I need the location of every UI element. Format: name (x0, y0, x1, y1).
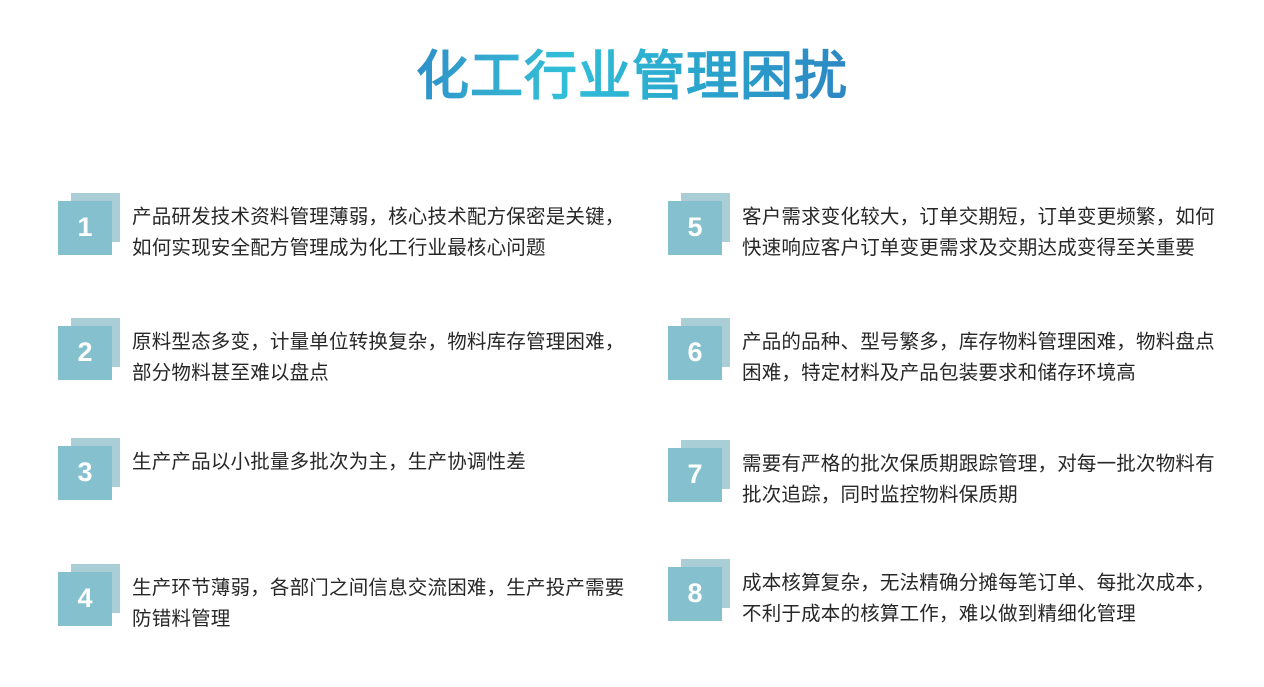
badge-square: 3 (58, 446, 112, 500)
badge-square: 8 (668, 567, 722, 621)
badge-square: 5 (668, 201, 722, 255)
bullet-number-badge: 8 (668, 559, 730, 621)
bullet-item-text: 生产环节薄弱，各部门之间信息交流困难，生产投产需要防错料管理 (132, 573, 630, 635)
bullet-number-badge: 4 (58, 564, 120, 626)
bullet-number-badge: 6 (668, 318, 730, 380)
bullet-number-badge: 3 (58, 438, 120, 500)
bullet-item-text: 生产产品以小批量多批次为主，生产协调性差 (132, 447, 630, 478)
bullet-number-label: 5 (687, 214, 702, 241)
bullet-item-text: 产品研发技术资料管理薄弱，核心技术配方保密是关键，如何实现安全配方管理成为化工行… (132, 202, 630, 264)
slide-canvas: 化工行业管理困扰 1产品研发技术资料管理薄弱，核心技术配方保密是关键，如何实现安… (0, 0, 1264, 687)
bullet-item-text: 成本核算复杂，无法精确分摊每笔订单、每批次成本，不利于成本的核算工作，难以做到精… (742, 568, 1234, 630)
bullet-number-label: 6 (687, 339, 702, 366)
bullet-number-label: 1 (77, 214, 92, 241)
badge-square: 2 (58, 326, 112, 380)
bullet-number-badge: 7 (668, 440, 730, 502)
bullet-number-label: 8 (687, 580, 702, 607)
bullet-column-right: 5客户需求变化较大，订单交期短，订单变更频繁，如何快速响应客户订单变更需求及交期… (660, 0, 1260, 687)
bullet-item-text: 客户需求变化较大，订单交期短，订单变更频繁，如何快速响应客户订单变更需求及交期达… (742, 202, 1234, 264)
bullet-item-text: 产品的品种、型号繁多，库存物料管理困难，物料盘点困难，特定材料及产品包装要求和储… (742, 327, 1234, 389)
bullet-number-label: 3 (77, 459, 92, 486)
badge-square: 4 (58, 572, 112, 626)
bullet-number-label: 4 (77, 585, 92, 612)
bullet-number-badge: 2 (58, 318, 120, 380)
bullet-number-label: 2 (77, 339, 92, 366)
badge-square: 7 (668, 448, 722, 502)
bullet-column-left: 1产品研发技术资料管理薄弱，核心技术配方保密是关键，如何实现安全配方管理成为化工… (50, 0, 650, 687)
bullet-number-badge: 5 (668, 193, 730, 255)
badge-square: 1 (58, 201, 112, 255)
bullet-number-badge: 1 (58, 193, 120, 255)
bullet-number-label: 7 (687, 461, 702, 488)
bullet-item-text: 需要有严格的批次保质期跟踪管理，对每一批次物料有批次追踪，同时监控物料保质期 (742, 449, 1234, 511)
badge-square: 6 (668, 326, 722, 380)
bullet-item-text: 原料型态多变，计量单位转换复杂，物料库存管理困难，部分物料甚至难以盘点 (132, 327, 630, 389)
